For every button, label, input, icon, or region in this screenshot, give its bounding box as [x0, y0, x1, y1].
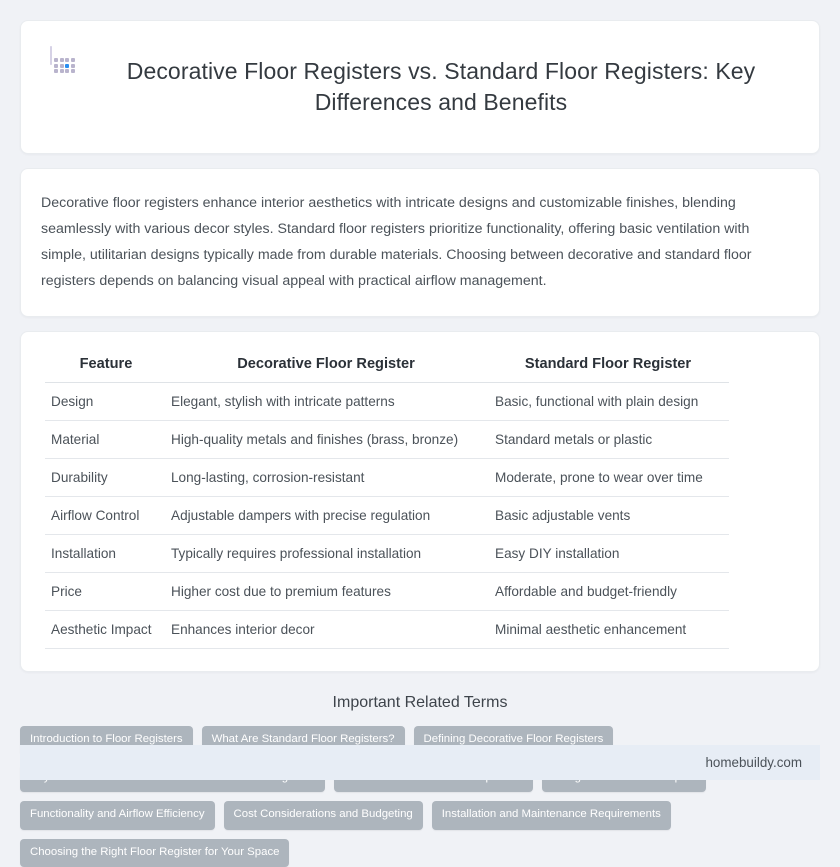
related-terms-section: Important Related Terms Introduction to … [20, 694, 820, 867]
comparison-table-card: Feature Decorative Floor Register Standa… [20, 331, 820, 672]
cell-feature: Price [45, 573, 165, 611]
title-card: Decorative Floor Registers vs. Standard … [20, 20, 820, 154]
cell-standard: Moderate, prone to wear over time [487, 459, 729, 497]
table-row: Airflow Control Adjustable dampers with … [45, 497, 729, 535]
site-name: homebuildy.com [705, 755, 802, 770]
related-term-tag[interactable]: Installation and Maintenance Requirement… [432, 801, 671, 829]
cell-feature: Material [45, 421, 165, 459]
calendar-icon [50, 47, 76, 73]
description-card: Decorative floor registers enhance inter… [20, 168, 820, 317]
table-row: Design Elegant, stylish with intricate p… [45, 383, 729, 421]
title-inner: Decorative Floor Registers vs. Standard … [50, 41, 790, 133]
table-header-row: Feature Decorative Floor Register Standa… [45, 350, 729, 383]
related-term-tag[interactable]: Functionality and Airflow Efficiency [20, 801, 215, 829]
cell-decorative: Higher cost due to premium features [165, 573, 487, 611]
cell-decorative: Enhances interior decor [165, 611, 487, 649]
column-header-feature: Feature [45, 350, 165, 383]
cell-decorative: High-quality metals and finishes (brass,… [165, 421, 487, 459]
table-body: Design Elegant, stylish with intricate p… [45, 383, 729, 649]
footer-bar: homebuildy.com [20, 745, 820, 780]
cell-standard: Basic adjustable vents [487, 497, 729, 535]
table-row: Installation Typically requires professi… [45, 535, 729, 573]
page-root: Decorative Floor Registers vs. Standard … [0, 0, 840, 809]
cell-feature: Durability [45, 459, 165, 497]
description-text: Decorative floor registers enhance inter… [41, 191, 797, 294]
related-term-tag[interactable]: Choosing the Right Floor Register for Yo… [20, 839, 289, 867]
cell-decorative: Elegant, stylish with intricate patterns [165, 383, 487, 421]
cell-standard: Basic, functional with plain design [487, 383, 729, 421]
cell-standard: Affordable and budget-friendly [487, 573, 729, 611]
table-row: Price Higher cost due to premium feature… [45, 573, 729, 611]
cell-standard: Minimal aesthetic enhancement [487, 611, 729, 649]
table-head: Feature Decorative Floor Register Standa… [45, 350, 729, 383]
cell-feature: Installation [45, 535, 165, 573]
column-header-decorative: Decorative Floor Register [165, 350, 487, 383]
column-header-standard: Standard Floor Register [487, 350, 729, 383]
cell-standard: Easy DIY installation [487, 535, 729, 573]
cell-decorative: Typically requires professional installa… [165, 535, 487, 573]
cell-decorative: Adjustable dampers with precise regulati… [165, 497, 487, 535]
cell-feature: Airflow Control [45, 497, 165, 535]
related-terms-heading: Important Related Terms [20, 694, 820, 712]
page-title: Decorative Floor Registers vs. Standard … [92, 56, 790, 117]
table-row: Aesthetic Impact Enhances interior decor… [45, 611, 729, 649]
comparison-table: Feature Decorative Floor Register Standa… [45, 350, 729, 649]
related-term-tag[interactable]: Cost Considerations and Budgeting [224, 801, 423, 829]
table-row: Durability Long-lasting, corrosion-resis… [45, 459, 729, 497]
table-row: Material High-quality metals and finishe… [45, 421, 729, 459]
cell-decorative: Long-lasting, corrosion-resistant [165, 459, 487, 497]
cell-standard: Standard metals or plastic [487, 421, 729, 459]
cell-feature: Aesthetic Impact [45, 611, 165, 649]
cell-feature: Design [45, 383, 165, 421]
